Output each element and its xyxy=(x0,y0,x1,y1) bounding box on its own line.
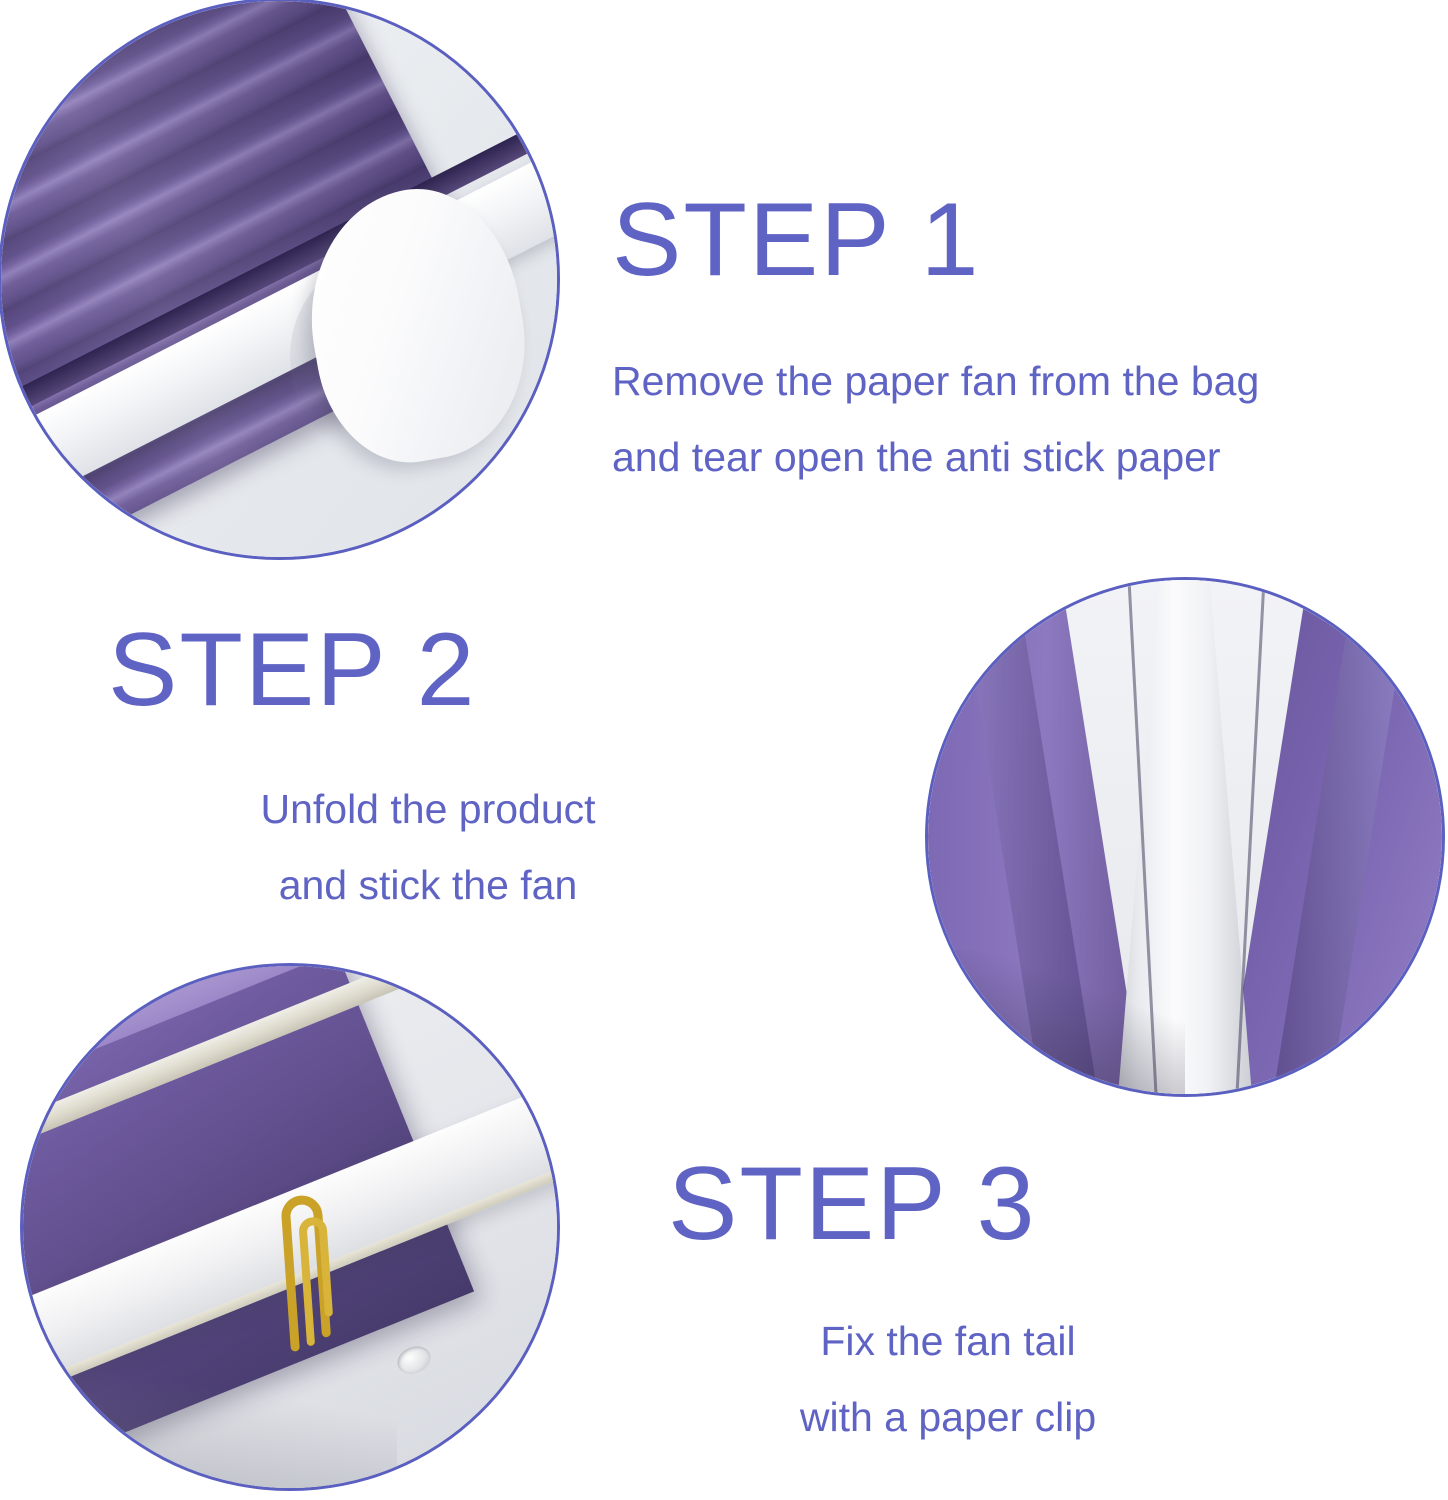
step-1-description-line-2: and tear open the anti stick paper xyxy=(612,434,1412,481)
step-3-description-line-1: Fix the fan tail xyxy=(668,1318,1408,1365)
step-2-description-line-1: Unfold the product xyxy=(108,786,808,833)
floor-shadow xyxy=(23,1352,397,1488)
step-1-title: STEP 1 xyxy=(612,188,1412,292)
instruction-infographic: STEP 1 Remove the paper fan from the bag… xyxy=(0,0,1448,1500)
step-1-text-block: STEP 1 Remove the paper fan from the bag… xyxy=(612,188,1412,481)
step-2-photo-content xyxy=(928,580,1442,1094)
step-3-title: STEP 3 xyxy=(668,1152,1408,1256)
step-2-title: STEP 2 xyxy=(108,618,808,722)
step-3-photo-content xyxy=(23,966,557,1488)
step-1-description-line-1: Remove the paper fan from the bag xyxy=(612,358,1412,405)
step-2-photo xyxy=(925,577,1445,1097)
floor-shadow xyxy=(928,950,1185,1094)
step-1-photo-content xyxy=(1,1,557,557)
step-2-text-block: STEP 2 Unfold the product and stick the … xyxy=(108,618,808,909)
step-3-text-block: STEP 3 Fix the fan tail with a paper cli… xyxy=(668,1152,1408,1441)
step-3-description-line-2: with a paper clip xyxy=(668,1394,1408,1441)
step-1-photo xyxy=(0,0,560,560)
paper-clip-icon xyxy=(262,1162,347,1357)
step-3-photo xyxy=(20,963,560,1491)
step-2-description-line-2: and stick the fan xyxy=(108,862,808,909)
